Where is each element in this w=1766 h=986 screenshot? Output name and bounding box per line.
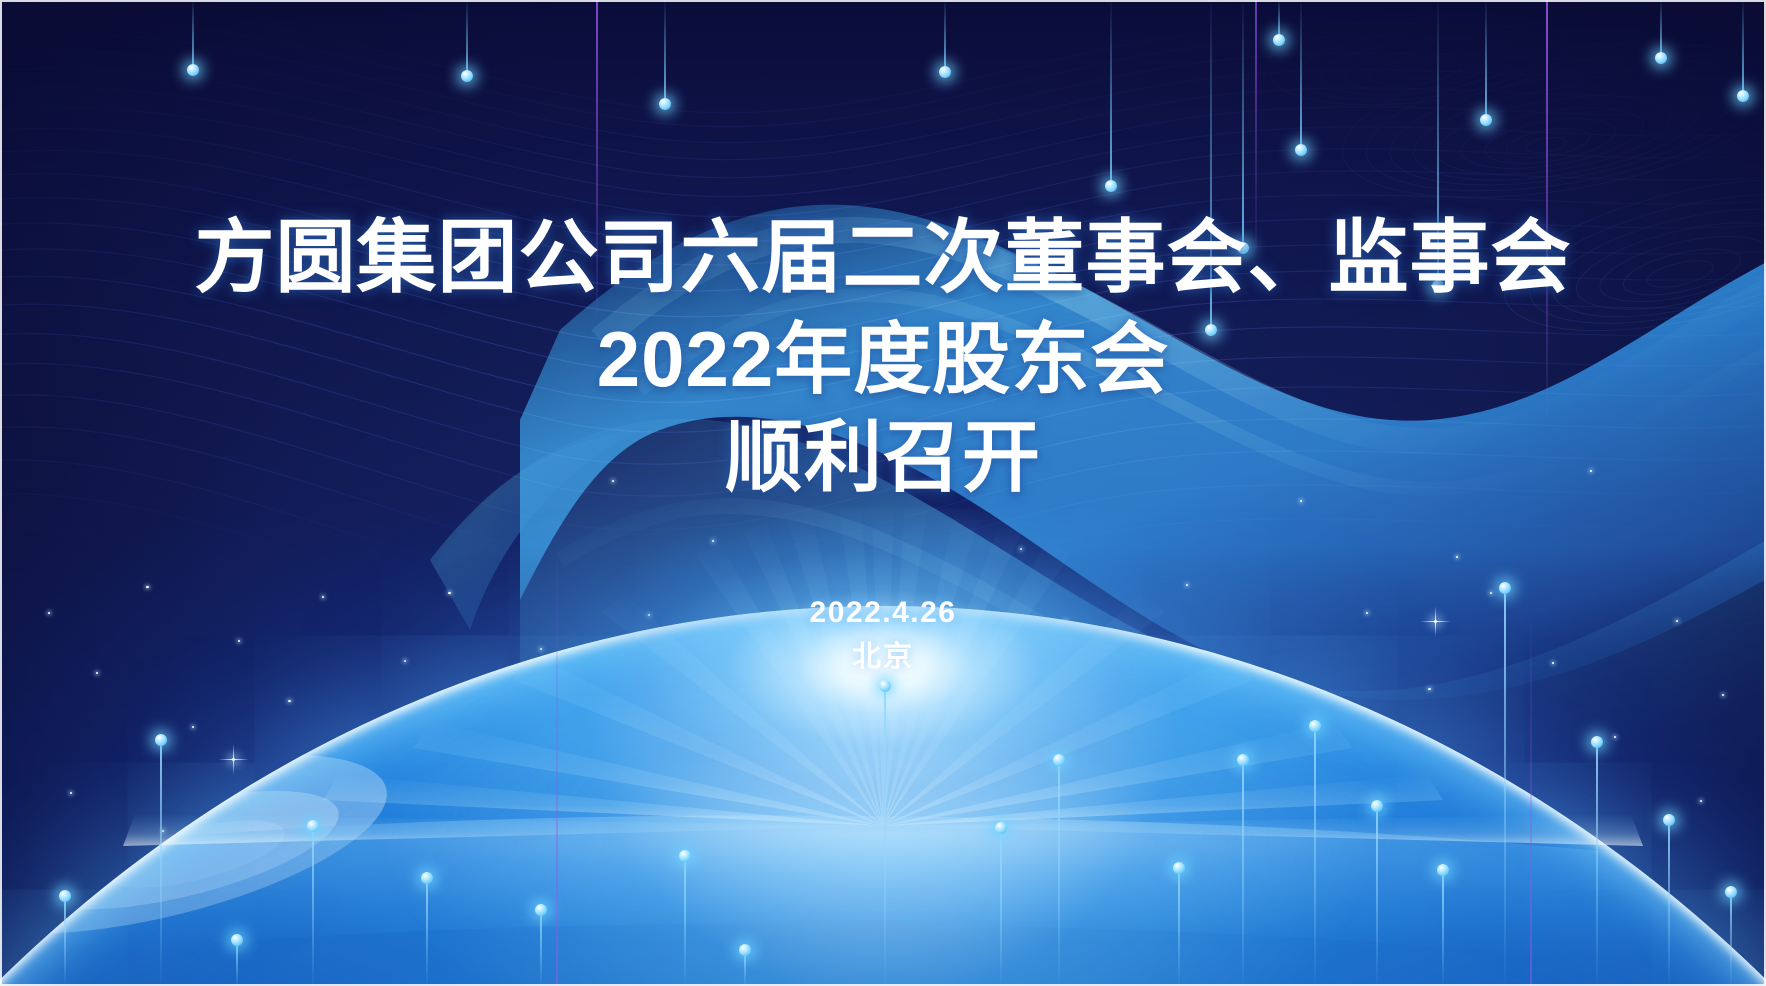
beam-bulb-icon	[939, 66, 951, 78]
hanging-light-beam	[1742, 0, 1744, 96]
poster-title-line-3: 顺利召开	[0, 418, 1766, 496]
rising-light-beam	[1314, 726, 1316, 986]
hanging-light-beam	[1660, 0, 1662, 58]
rising-light-beam	[160, 740, 162, 986]
hanging-light-beam	[466, 0, 468, 76]
rising-light-beam	[684, 856, 686, 986]
rising-light-beam	[1178, 868, 1180, 986]
rising-light-beam	[1730, 892, 1732, 986]
beam-bulb-icon	[1053, 754, 1065, 766]
beam-bulb-icon	[679, 850, 691, 862]
rising-light-beam	[884, 686, 886, 986]
beam-bulb-icon	[59, 890, 71, 902]
hanging-light-beam	[1300, 0, 1302, 150]
beam-bulb-icon	[307, 820, 319, 832]
rising-light-beam	[64, 896, 66, 986]
rising-light-beam	[744, 950, 746, 986]
conference-poster: 方圆集团公司六届二次董事会、监事会 2022年度股东会 顺利召开 2022.4.…	[0, 0, 1766, 986]
rising-light-beam	[1058, 760, 1060, 986]
beam-bulb-icon	[461, 70, 473, 82]
beam-bulb-icon	[1173, 862, 1185, 874]
beam-bulb-icon	[1480, 114, 1492, 126]
rising-light-beam	[1668, 820, 1670, 986]
beam-bulb-icon	[1737, 90, 1749, 102]
beam-bulb-icon	[739, 944, 751, 956]
rising-light-beam	[1000, 828, 1002, 986]
beam-bulb-icon	[1309, 720, 1321, 732]
hanging-light-beam	[1278, 0, 1280, 40]
beam-bulb-icon	[1591, 736, 1603, 748]
poster-title-line-2: 2022年度股东会	[0, 320, 1766, 398]
beam-bulb-icon	[1295, 144, 1307, 156]
event-date: 2022.4.26	[0, 594, 1766, 632]
hanging-light-beam	[1110, 0, 1112, 186]
poster-meta-block: 2022.4.26 北京	[0, 594, 1766, 677]
hanging-light-beam	[944, 0, 946, 72]
hanging-light-beam	[192, 0, 194, 70]
hanging-light-beam	[1485, 0, 1487, 120]
rising-light-beam	[540, 910, 542, 986]
beam-bulb-icon	[155, 734, 167, 746]
rising-light-beam	[1596, 742, 1598, 986]
beam-bulb-icon	[659, 98, 671, 110]
beam-bulb-icon	[1437, 864, 1449, 876]
hanging-light-beam	[1242, 0, 1244, 248]
rising-light-beam	[236, 940, 238, 986]
rising-light-beam	[426, 878, 428, 986]
poster-title-line-1: 方圆集团公司六届二次董事会、监事会	[0, 218, 1766, 298]
poster-title-block: 方圆集团公司六届二次董事会、监事会 2022年度股东会 顺利召开	[0, 218, 1766, 496]
beam-bulb-icon	[1371, 800, 1383, 812]
hanging-light-beam	[664, 0, 666, 104]
beam-bulb-icon	[187, 64, 199, 76]
beam-bulb-icon	[1105, 180, 1117, 192]
beam-bulb-icon	[1663, 814, 1675, 826]
beam-bulb-icon	[1499, 582, 1511, 594]
beam-bulb-icon	[995, 822, 1007, 834]
beam-bulb-icon	[1273, 34, 1285, 46]
beam-bulb-icon	[879, 680, 891, 692]
beam-bulb-icon	[1237, 754, 1249, 766]
beam-bulb-icon	[535, 904, 547, 916]
rising-light-beam	[312, 826, 314, 986]
event-location: 北京	[0, 638, 1766, 677]
rising-light-beam	[1242, 760, 1244, 986]
beam-bulb-icon	[1725, 886, 1737, 898]
rising-light-beam	[1442, 870, 1444, 986]
beam-bulb-icon	[1655, 52, 1667, 64]
rising-light-beam	[1376, 806, 1378, 986]
beam-bulb-icon	[231, 934, 243, 946]
beam-bulb-icon	[421, 872, 433, 884]
